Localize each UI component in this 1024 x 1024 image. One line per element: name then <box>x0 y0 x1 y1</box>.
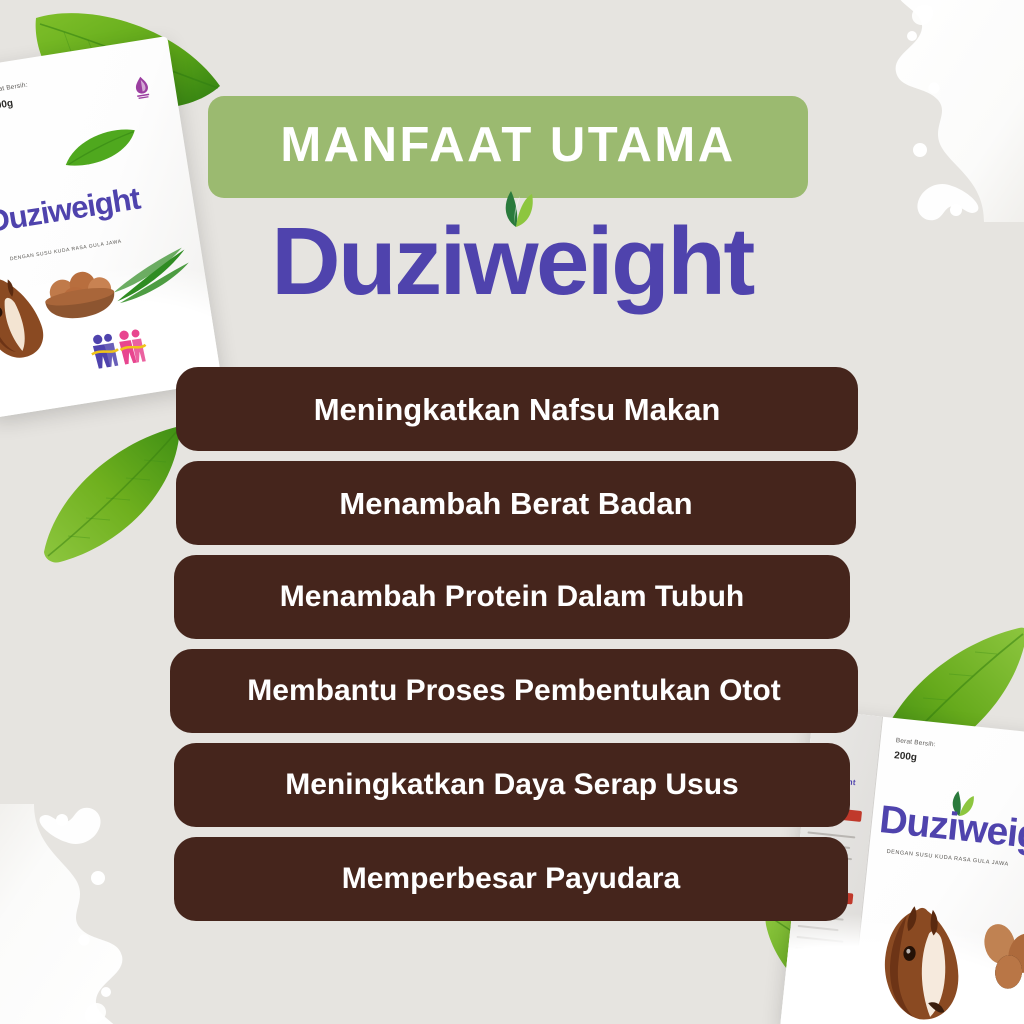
benefit-pill[interactable]: Menambah Protein Dalam Tubuh <box>174 555 850 639</box>
benefit-label: Menambah Berat Badan <box>339 488 692 519</box>
benefit-pill[interactable]: Membantu Proses Pembentukan Otot <box>170 649 858 733</box>
brand-logo: Duziweight <box>0 214 1024 310</box>
halal-logo-icon <box>130 74 154 101</box>
milk-splash-icon <box>834 0 1024 222</box>
benefit-label: Membantu Proses Pembentukan Otot <box>247 676 780 706</box>
brand-name: Duziweight <box>271 214 753 310</box>
benefit-pill[interactable]: Memperbesar Payudara <box>174 837 848 921</box>
box-weight-value: 200g <box>0 98 14 112</box>
promo-poster: Berat Bersih: 200g Duziweight DENGAN SUS… <box>0 0 1024 1024</box>
leaf-icon <box>58 119 143 176</box>
box-weight-label: Berat Bersih: <box>0 81 28 94</box>
benefit-label: Memperbesar Payudara <box>342 864 681 894</box>
benefit-pill[interactable]: Meningkatkan Daya Serap Usus <box>174 743 850 827</box>
benefit-pill[interactable]: Meningkatkan Nafsu Makan <box>176 367 858 451</box>
leaf-icon <box>28 8 228 128</box>
benefit-label: Meningkatkan Daya Serap Usus <box>285 770 739 800</box>
barcode-icon <box>798 1004 825 1024</box>
sachet-diagram-icon <box>793 958 840 991</box>
benefit-pill[interactable]: Menambah Berat Badan <box>176 461 856 545</box>
leaf-icon <box>500 190 534 228</box>
banner-title: MANFAAT UTAMA <box>280 121 735 170</box>
benefit-label: Meningkatkan Nafsu Makan <box>314 394 721 425</box>
benefits-list: Meningkatkan Nafsu Makan Menambah Berat … <box>0 367 1024 931</box>
header-banner: MANFAAT UTAMA <box>208 96 808 198</box>
benefit-label: Menambah Protein Dalam Tubuh <box>280 582 745 612</box>
